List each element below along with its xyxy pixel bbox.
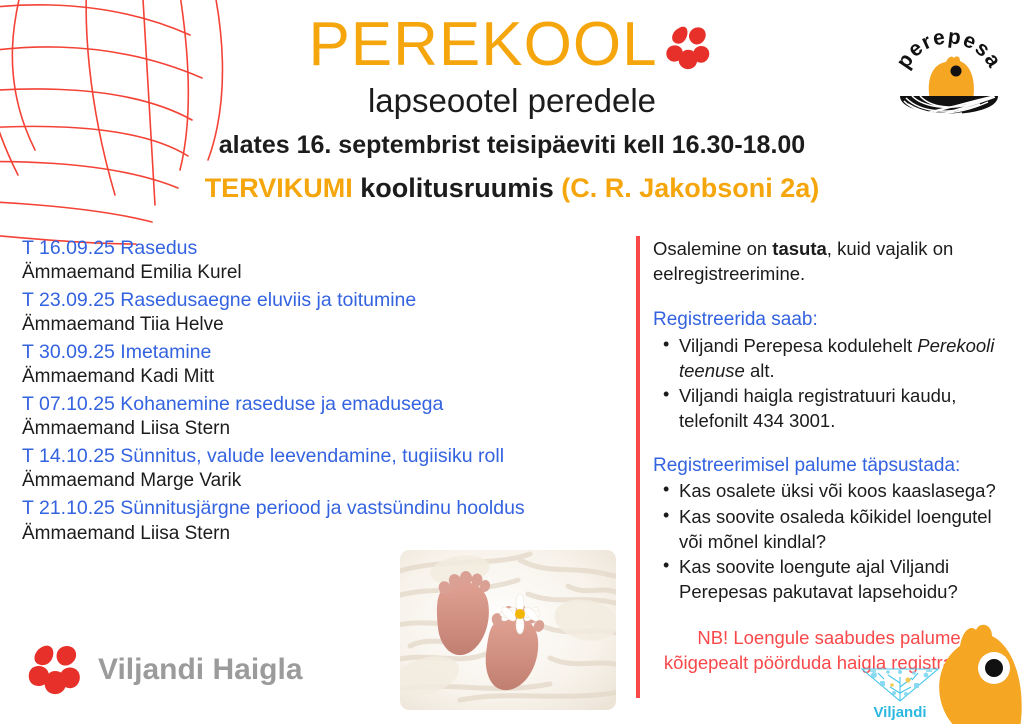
lecture-title: T 21.10.25 Sünnitusjärgne periood ja vas… xyxy=(22,496,622,521)
poster-header: PEREKOOL lapseootel peredele alates 16. … xyxy=(0,14,1024,204)
register-options-list: Viljandi Perepesa kodulehelt Perekooli t… xyxy=(653,334,1005,433)
lecture-title: T 16.09.25 Rasedus xyxy=(22,236,622,261)
register-heading: Registreerida saab: xyxy=(653,307,1005,333)
register-option-post: alt. xyxy=(745,360,775,381)
register-option-pre: Viljandi Perepesa kodulehelt xyxy=(679,335,917,356)
subtitle-audience: lapseootel peredele xyxy=(0,82,1024,120)
lecture-lecturer: Ämmaemand Emilia Kurel xyxy=(22,261,622,286)
lecture-lecturer: Ämmaemand Kadi Mitt xyxy=(22,365,622,390)
list-item: Viljandi Perepesa kodulehelt Perekooli t… xyxy=(679,334,1005,383)
list-item: Kas soovite loengute ajal Viljandi Perep… xyxy=(679,555,1005,604)
title-row: PEREKOOL xyxy=(0,14,1024,76)
poster-canvas: PEREKOOL lapseootel peredele alates 16. … xyxy=(0,0,1024,724)
lecture-title: T 30.09.25 Imetamine xyxy=(22,340,622,365)
register-option-phone: Viljandi haigla registratuuri kaudu, tel… xyxy=(679,385,956,431)
lecture-lecturer: Ämmaemand Tiia Helve xyxy=(22,313,622,338)
participation-free: tasuta xyxy=(772,238,827,259)
lecture-lecturer: Ämmaemand Liisa Stern xyxy=(22,417,622,442)
lecture-title: T 07.10.25 Kohanemine raseduse ja emadus… xyxy=(22,392,622,417)
specify-heading: Registreerimisel palume täpsustada: xyxy=(653,453,1005,479)
location-address: (C. R. Jakobsoni 2a) xyxy=(561,173,819,203)
list-item: Viljandi haigla registratuuri kaudu, tel… xyxy=(679,384,1005,433)
column-divider xyxy=(636,236,640,698)
lecture-title: T 23.09.25 Rasedusaegne eluviis ja toitu… xyxy=(22,288,622,313)
viljandi-haigla-logo: Viljandi Haigla xyxy=(26,643,303,697)
specify-questions-list: Kas osalete üksi või koos kaaslasega? Ka… xyxy=(653,479,1005,604)
participation-pre: Osalemine on xyxy=(653,238,772,259)
location-room: koolitusruumis xyxy=(353,173,562,203)
lecture-title: T 14.10.25 Sünnitus, valude leevendamine… xyxy=(22,444,622,469)
lecture-lecturer: Ämmaemand Liisa Stern xyxy=(22,522,622,547)
red-flower-icon xyxy=(660,24,716,72)
participation-note: Osalemine on tasuta, kuid vajalik on eel… xyxy=(653,236,1005,286)
orange-chick-icon xyxy=(904,618,1024,724)
perepesa-logo: perepesa xyxy=(890,8,1008,120)
subtitle-schedule: alates 16. septembrist teisipäeviti kell… xyxy=(0,131,1024,160)
location-venue: TERVIKUMI xyxy=(205,173,353,203)
lecture-list: T 16.09.25 Rasedus Ämmaemand Emilia Kure… xyxy=(22,236,622,548)
list-item: Kas soovite osaleda kõikidel loengutel v… xyxy=(679,505,1005,554)
baby-feet-photo xyxy=(400,550,616,710)
subtitle-location: TERVIKUMI koolitusruumis (C. R. Jakobson… xyxy=(0,173,1024,204)
lecture-lecturer: Ämmaemand Marge Varik xyxy=(22,469,622,494)
list-item: Kas osalete üksi või koos kaaslasega? xyxy=(679,479,1005,504)
viljandi-haigla-wordmark: Viljandi Haigla xyxy=(98,653,303,687)
red-flower-icon xyxy=(26,643,86,697)
page-title: PEREKOOL xyxy=(308,14,657,76)
